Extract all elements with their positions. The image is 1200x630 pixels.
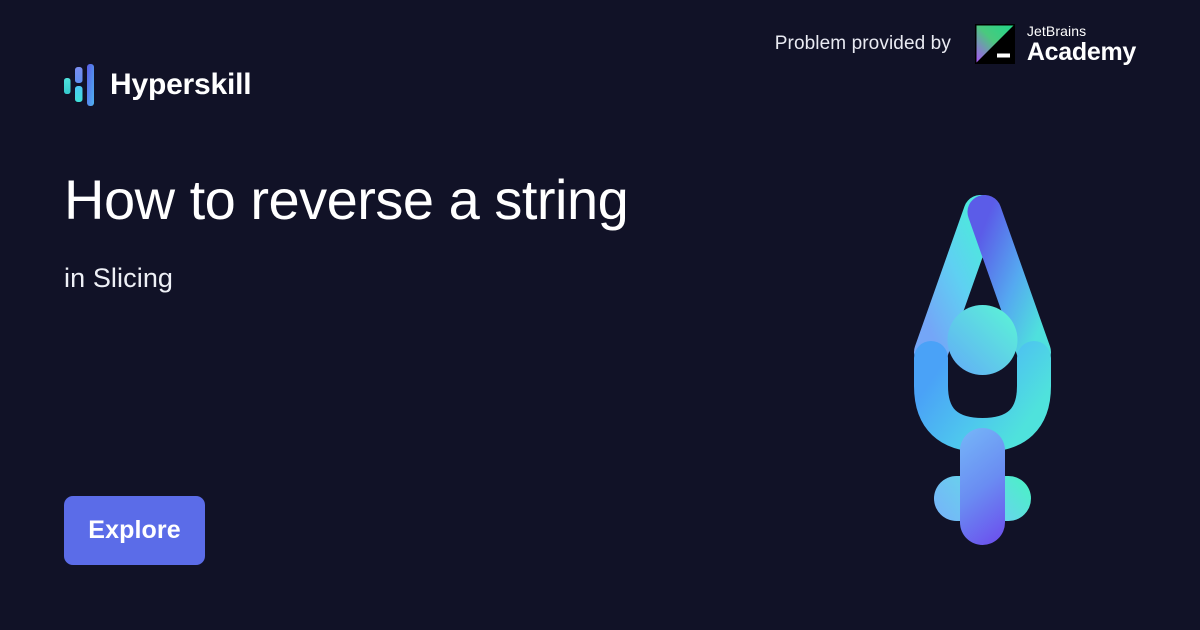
page-subtitle: in Slicing <box>64 263 764 294</box>
hyperskill-bars-icon <box>64 64 94 106</box>
page-title: How to reverse a string <box>64 168 764 232</box>
jetbrains-square-icon <box>975 24 1015 64</box>
hyperskill-brand[interactable]: Hyperskill <box>64 61 251 109</box>
main-copy: How to reverse a string in Slicing <box>64 168 764 294</box>
header: Hyperskill Problem provided by <box>0 0 1200 170</box>
jetbrains-academy-logo[interactable]: JetBrains Academy <box>975 24 1136 65</box>
vertical-pill <box>960 428 1005 545</box>
academy-word: Academy <box>1027 40 1136 65</box>
explore-button[interactable]: Explore <box>64 496 205 565</box>
inner-circle <box>948 305 1018 375</box>
hyperskill-topic-emblem-icon <box>900 180 1070 555</box>
provider-block: Problem provided by <box>775 24 1136 65</box>
provider-label: Problem provided by <box>775 33 951 55</box>
jetbrains-word: JetBrains <box>1027 24 1136 38</box>
hyperskill-wordmark: Hyperskill <box>110 70 251 100</box>
jetbrains-academy-wordmark: JetBrains Academy <box>1027 24 1136 65</box>
share-card: Hyperskill Problem provided by <box>0 0 1200 630</box>
